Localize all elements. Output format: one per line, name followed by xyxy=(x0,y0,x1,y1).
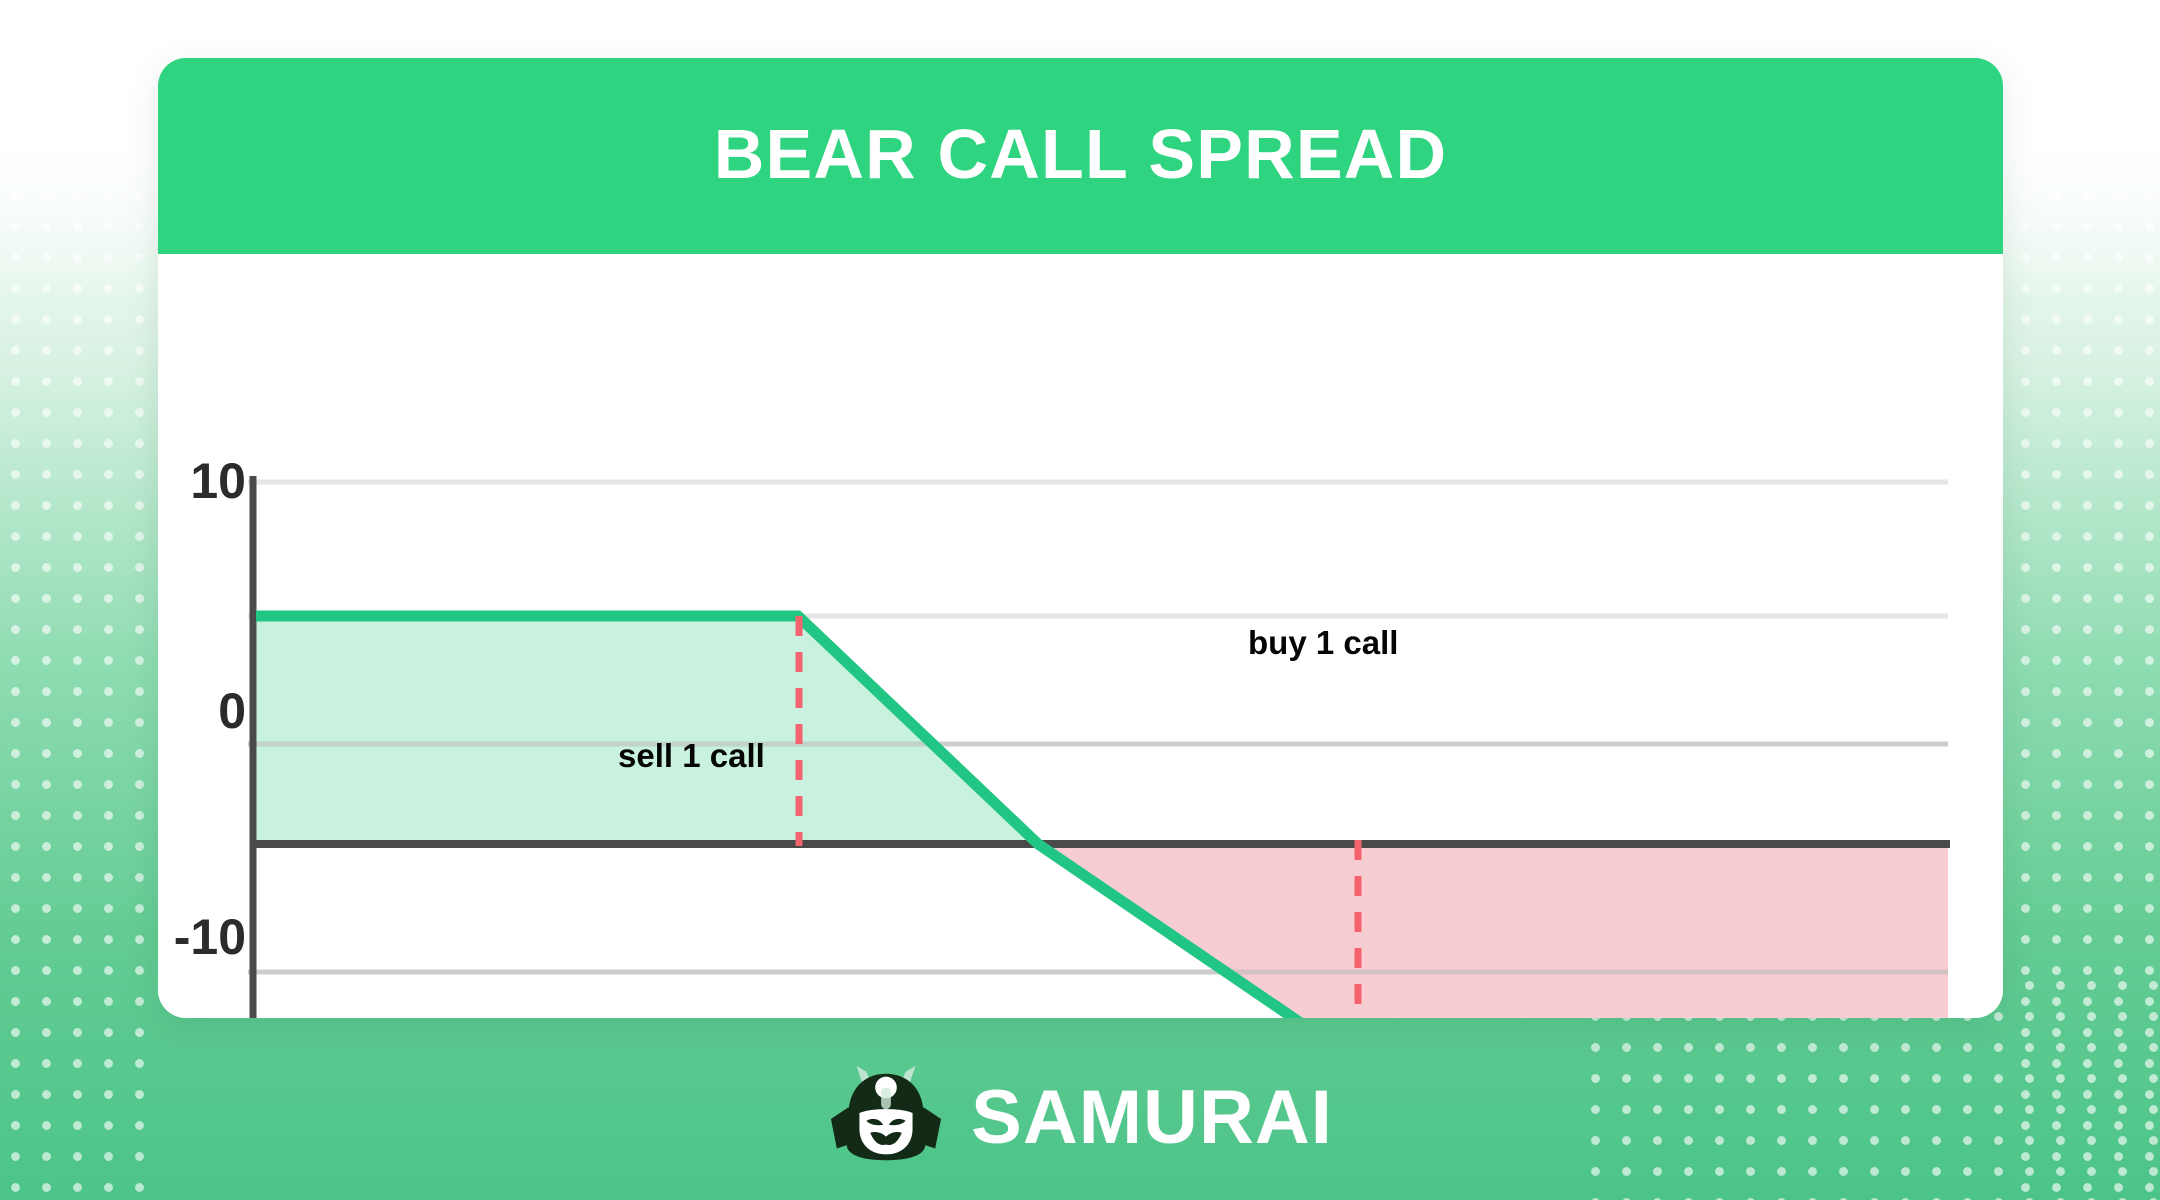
samurai-helmet-icon xyxy=(827,1058,945,1176)
page-title: BEAR CALL SPREAD xyxy=(714,119,1448,189)
y-axis-tick-label-0: 0 xyxy=(158,686,246,736)
payoff-chart xyxy=(158,254,2003,1018)
y-axis-tick-label-10: 10 xyxy=(158,456,246,506)
brand-footer: SAMURAI xyxy=(0,1052,2160,1182)
y-axis-tick-label-minus-10: -10 xyxy=(158,912,246,962)
card-header: BEAR CALL SPREAD xyxy=(158,58,2003,254)
background-dot-pattern-left xyxy=(0,180,150,1200)
chart-plot-container: 10 0 -10 sell 1 call buy 1 call xyxy=(158,254,2003,1018)
annotation-sell-1-call: sell 1 call xyxy=(618,739,765,772)
annotation-buy-1-call: buy 1 call xyxy=(1248,626,1398,659)
chart-card: BEAR CALL SPREAD xyxy=(158,58,2003,1018)
brand-wordmark: SAMURAI xyxy=(971,1080,1333,1156)
